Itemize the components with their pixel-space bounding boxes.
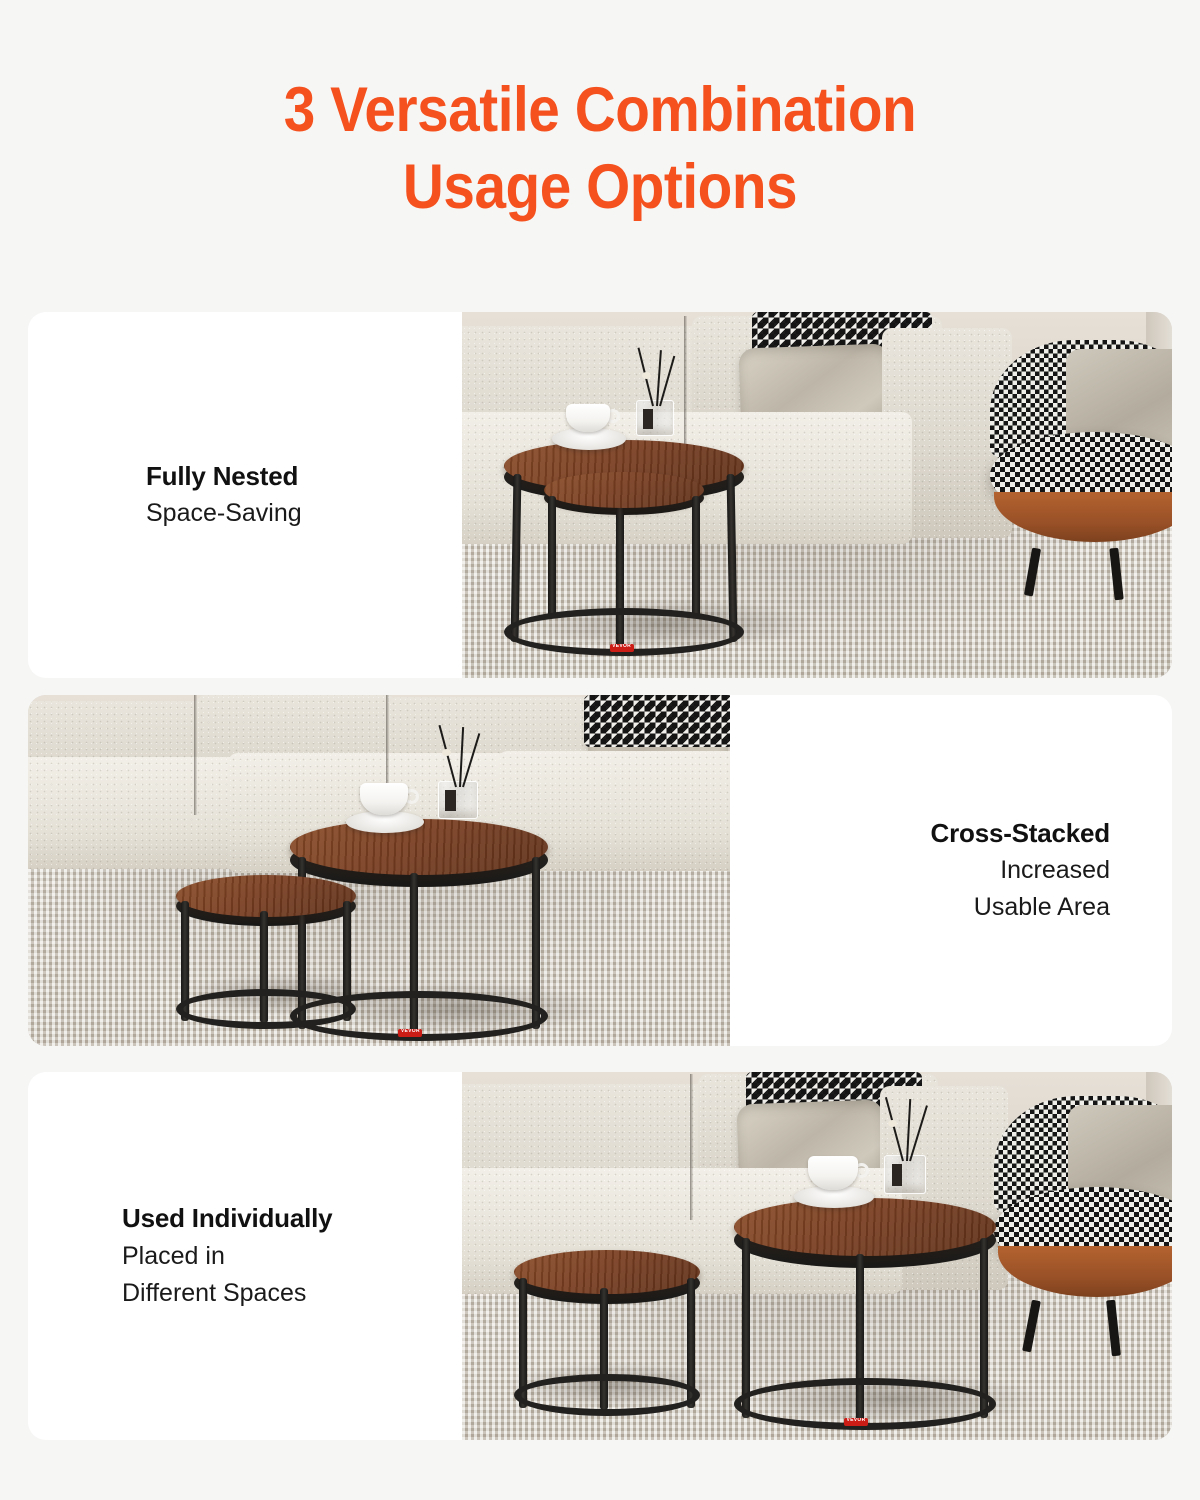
reed-diffuser <box>438 753 478 819</box>
page-title-line-1: 3 Versatile Combination <box>60 72 1140 149</box>
table-small <box>514 1250 700 1410</box>
houndstooth-pillow-back <box>584 695 730 747</box>
product-photo-used-individually: VEVOR <box>462 1072 1172 1440</box>
nesting-table-small <box>176 875 356 1023</box>
table-base-ring-small <box>514 1374 700 1416</box>
reed-diffuser <box>636 374 674 436</box>
feature-card-fully-nested[interactable]: Fully Nested Space-Saving <box>28 312 1172 678</box>
caption-subtext-1: Space-Saving <box>146 497 302 530</box>
feature-card-cross-stacked[interactable]: VEVOR <box>28 695 1172 1046</box>
caption-subtext-1: Increased <box>1000 854 1110 887</box>
armchair-leather-base <box>998 1246 1172 1296</box>
reed-diffuser <box>884 1126 926 1194</box>
diffuser-label <box>643 409 653 429</box>
product-photo-cross-stacked: VEVOR <box>28 695 730 1046</box>
caption-heading: Used Individually <box>122 1202 332 1235</box>
header: 3 Versatile Combination Usage Options <box>0 0 1200 227</box>
page-title-line-2: Usage Options <box>60 149 1140 226</box>
living-room-scene: VEVOR <box>28 695 730 1046</box>
living-room-scene: VEVOR <box>462 1072 1172 1440</box>
table-large: VEVOR <box>734 1198 996 1422</box>
caption-subtext-2: Different Spaces <box>122 1277 306 1310</box>
table-base-ring-small <box>176 989 356 1029</box>
sofa-seam-1 <box>194 695 197 815</box>
feature-card-used-individually[interactable]: Used Individually Placed in Different Sp… <box>28 1072 1172 1440</box>
diffuser-label <box>445 790 455 811</box>
diffuser-label <box>892 1164 903 1186</box>
dried-flower-bud <box>888 1120 897 1127</box>
tabletop-small <box>514 1250 700 1294</box>
table-leg-large-3 <box>727 474 738 642</box>
caption-heading: Cross-Stacked <box>931 817 1110 850</box>
caption-subtext-1: Placed in <box>122 1240 225 1273</box>
dried-flower-bud <box>442 749 451 756</box>
armchair <box>994 1096 1172 1324</box>
sofa-seat-1 <box>28 757 254 869</box>
caption-used-individually: Used Individually Placed in Different Sp… <box>28 1072 462 1440</box>
tabletop-small <box>544 472 704 508</box>
living-room-scene: VEVOR <box>462 312 1172 678</box>
armchair <box>990 340 1172 570</box>
table-leg-large-3 <box>532 857 540 1029</box>
table-leg-small-2 <box>692 496 700 618</box>
caption-subtext-2: Usable Area <box>974 891 1110 924</box>
caption-fully-nested: Fully Nested Space-Saving <box>28 312 462 678</box>
brand-badge: VEVOR <box>398 1029 422 1037</box>
caption-cross-stacked: Cross-Stacked Increased Usable Area <box>730 695 1172 1046</box>
table-leg-small-1 <box>548 496 556 618</box>
brand-badge: VEVOR <box>610 644 634 652</box>
sofa-seam <box>690 1074 693 1220</box>
brand-badge: VEVOR <box>844 1418 868 1426</box>
tabletop-large <box>290 819 548 875</box>
dried-flower-bud <box>642 372 651 379</box>
tabletop-large <box>734 1198 996 1256</box>
caption-heading: Fully Nested <box>146 460 298 493</box>
product-photo-fully-nested: VEVOR <box>462 312 1172 678</box>
feature-card-list: Fully Nested Space-Saving <box>28 312 1172 1440</box>
page-title: 3 Versatile Combination Usage Options <box>60 72 1140 227</box>
armchair-leather-base <box>994 492 1172 543</box>
